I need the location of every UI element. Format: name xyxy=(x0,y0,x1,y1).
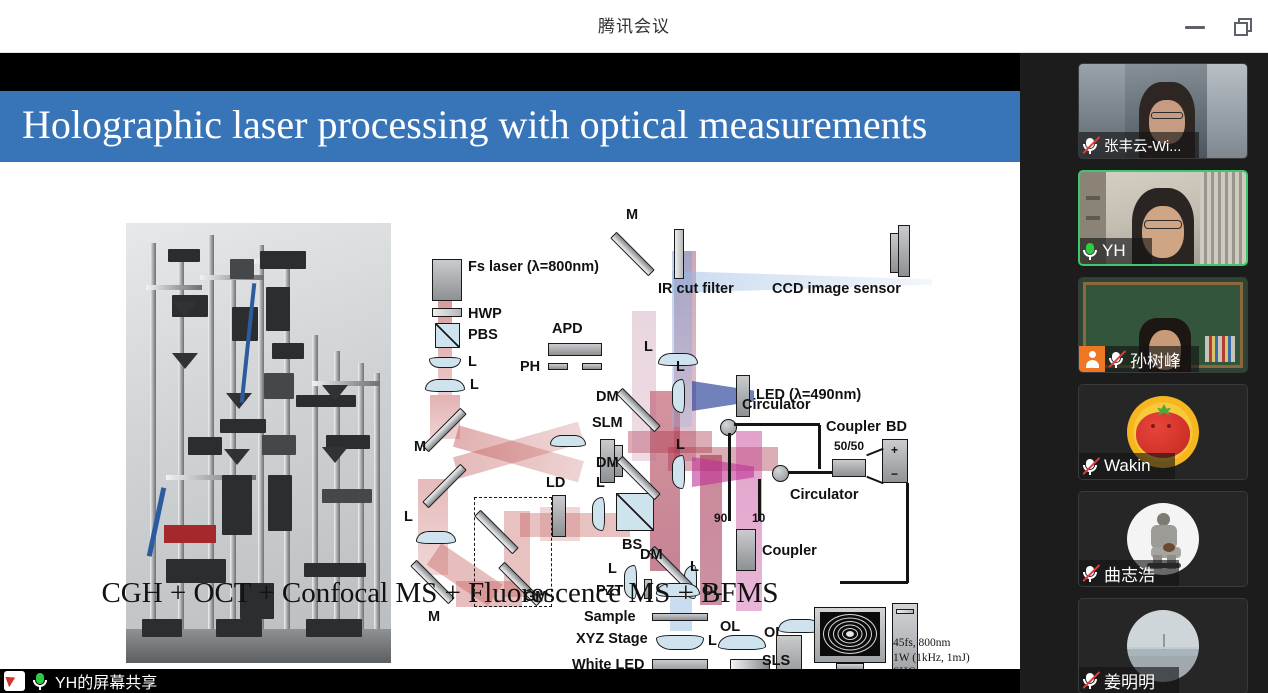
label-slm: SLM xyxy=(592,415,623,431)
white-led xyxy=(652,659,708,669)
laser-specifications: 45fs, 800nm 1W (1kHz, 1mJ) SHG Parametri… xyxy=(893,636,988,669)
pinhole-left xyxy=(548,363,568,370)
label-dm-2: DM xyxy=(596,455,619,471)
label-mirror-3: M xyxy=(428,609,440,625)
host-person-icon xyxy=(1079,346,1105,372)
polarizing-beam-splitter xyxy=(435,323,460,348)
slide-title: Holographic laser processing with optica… xyxy=(22,91,927,162)
shared-screen-viewport[interactable]: Holographic laser processing with optica… xyxy=(0,53,1020,669)
microphone-muted-icon xyxy=(1081,671,1100,690)
label-lens-9: L xyxy=(676,359,685,375)
microphone-muted-icon xyxy=(1081,136,1100,155)
participant-tile-5[interactable]: 姜明明 xyxy=(1078,598,1248,693)
participant-name: 张丰云-Wi... xyxy=(1104,135,1181,156)
minimize-button[interactable] xyxy=(1184,16,1206,38)
beam-splitter xyxy=(616,493,654,531)
label-ph: PH xyxy=(520,359,540,375)
participant-tile-0[interactable]: 张丰云-Wi... xyxy=(1078,63,1248,159)
label-lens-6: L xyxy=(608,561,617,577)
meeting-window: 腾讯会议 Holographic laser processing with o… xyxy=(0,0,1268,693)
participant-name: YH xyxy=(1102,241,1126,261)
label-dm-3: DM xyxy=(640,547,663,563)
participant-tile-3[interactable]: Wakin xyxy=(1078,384,1248,480)
lens-2 xyxy=(425,379,465,392)
circulator-bottom xyxy=(772,465,789,482)
label-coupler-5050: Coupler xyxy=(826,419,881,435)
label-circulator-bottom: Circulator xyxy=(790,487,859,503)
label-lens-8: L xyxy=(644,339,653,355)
participant-tile-1[interactable]: YH xyxy=(1078,170,1248,266)
label-coupler-ratio-5050: 50/50 xyxy=(834,439,864,453)
label-bd-minus: − xyxy=(891,467,898,481)
microphone-muted-icon xyxy=(1081,457,1100,476)
label-apd: APD xyxy=(552,321,583,337)
label-bd-plus: + xyxy=(891,443,898,457)
restore-button[interactable] xyxy=(1232,16,1254,38)
mirror-top xyxy=(610,232,655,277)
lens-9 xyxy=(672,379,685,413)
window-controls xyxy=(1184,0,1254,53)
spec-line-1: 45fs, 800nm xyxy=(893,636,988,651)
label-lens-5: L xyxy=(596,475,605,491)
label-sample: Sample xyxy=(584,609,636,625)
sample-holder xyxy=(652,613,708,621)
microphone-muted-icon xyxy=(1081,564,1100,583)
presentation-slide: Holographic laser processing with optica… xyxy=(0,91,1020,669)
pinhole-right xyxy=(582,363,602,370)
lens-10 xyxy=(672,455,685,489)
lens-4 xyxy=(550,435,586,447)
screen-share-icon xyxy=(4,671,25,691)
restore-window-icon xyxy=(1234,18,1253,37)
label-ol-3: OL xyxy=(720,619,740,635)
label-ccd: CCD image sensor xyxy=(772,281,901,297)
participant-namebar: 曲志浩 xyxy=(1079,560,1179,586)
participant-name: 姜明明 xyxy=(1104,668,1155,693)
label-bd: BD xyxy=(886,419,907,435)
label-ir-cut-filter: IR cut filter xyxy=(658,281,734,297)
participant-name: Wakin xyxy=(1104,456,1151,476)
lens-1 xyxy=(429,357,461,368)
label-coupler-ratio-90: 90 xyxy=(714,511,727,525)
share-status-text: YH的屏幕共享 xyxy=(55,669,157,693)
ccd-body xyxy=(898,225,910,277)
participant-rail[interactable]: 张丰云-Wi... YH xyxy=(1020,53,1268,693)
label-lens-7: L xyxy=(690,559,699,575)
label-mirror-1: M xyxy=(414,439,426,455)
label-lens-3: L xyxy=(404,509,413,525)
slide-caption: CGH + OCT + Confocal MS + Fluorescence M… xyxy=(0,577,880,610)
microphone-muted-icon xyxy=(1107,350,1126,369)
participant-namebar: 张丰云-Wi... xyxy=(1079,132,1199,158)
microphone-active-icon xyxy=(1082,241,1098,261)
label-sls: SLS xyxy=(762,653,790,669)
window-title: 腾讯会议 xyxy=(0,0,1268,53)
label-mirror-top: M xyxy=(626,207,638,223)
label-lens-condenser: L xyxy=(708,633,717,649)
label-fs-laser: Fs laser (λ=800nm) xyxy=(468,259,599,275)
interference-pattern xyxy=(820,612,880,656)
monitor-screen xyxy=(820,612,880,656)
label-lens-1: L xyxy=(468,354,477,370)
coupler-5050 xyxy=(832,459,866,477)
half-wave-plate xyxy=(432,308,462,317)
participant-name: 曲志浩 xyxy=(1104,561,1155,586)
label-coupler-90-10: Coupler xyxy=(762,543,817,559)
ir-cut-filter xyxy=(674,229,684,279)
label-white-led: White LED xyxy=(572,657,645,669)
objective-lens-2 xyxy=(718,635,766,650)
label-dm-1: DM xyxy=(596,389,619,405)
participant-tile-4[interactable]: 曲志浩 xyxy=(1078,491,1248,587)
label-xyz-stage: XYZ Stage xyxy=(576,631,648,647)
laser-diode xyxy=(552,495,566,537)
participant-namebar: YH xyxy=(1080,238,1152,264)
label-hwp: HWP xyxy=(468,306,502,322)
label-ld: LD xyxy=(546,475,565,491)
fs-laser-source xyxy=(432,259,462,301)
lens-3 xyxy=(416,531,456,544)
participant-namebar: Wakin xyxy=(1079,453,1175,479)
label-coupler-ratio-10: 10 xyxy=(752,511,765,525)
participant-namebar: 姜明明 xyxy=(1079,667,1179,693)
participant-name: 孙树峰 xyxy=(1130,347,1181,372)
label-pbs: PBS xyxy=(468,327,498,343)
spec-line-2: 1W (1kHz, 1mJ) xyxy=(893,651,988,666)
participant-namebar: 孙树峰 xyxy=(1105,346,1199,372)
label-lens-10: L xyxy=(676,437,685,453)
label-lens-2: L xyxy=(470,377,479,393)
microphone-active-icon xyxy=(32,671,48,691)
lens-5 xyxy=(592,497,605,531)
minimize-icon xyxy=(1185,26,1205,29)
avalanche-photodiode xyxy=(548,343,602,356)
coupler-90-10 xyxy=(736,529,756,571)
label-circulator-top: Circulator xyxy=(742,397,811,413)
participant-tile-2[interactable]: 孙树峰 xyxy=(1078,277,1248,373)
share-status-bar: YH的屏幕共享 xyxy=(0,669,1020,693)
window-titlebar: 腾讯会议 xyxy=(0,0,1268,53)
tower-slot xyxy=(896,609,914,614)
lens-condenser xyxy=(656,635,704,650)
